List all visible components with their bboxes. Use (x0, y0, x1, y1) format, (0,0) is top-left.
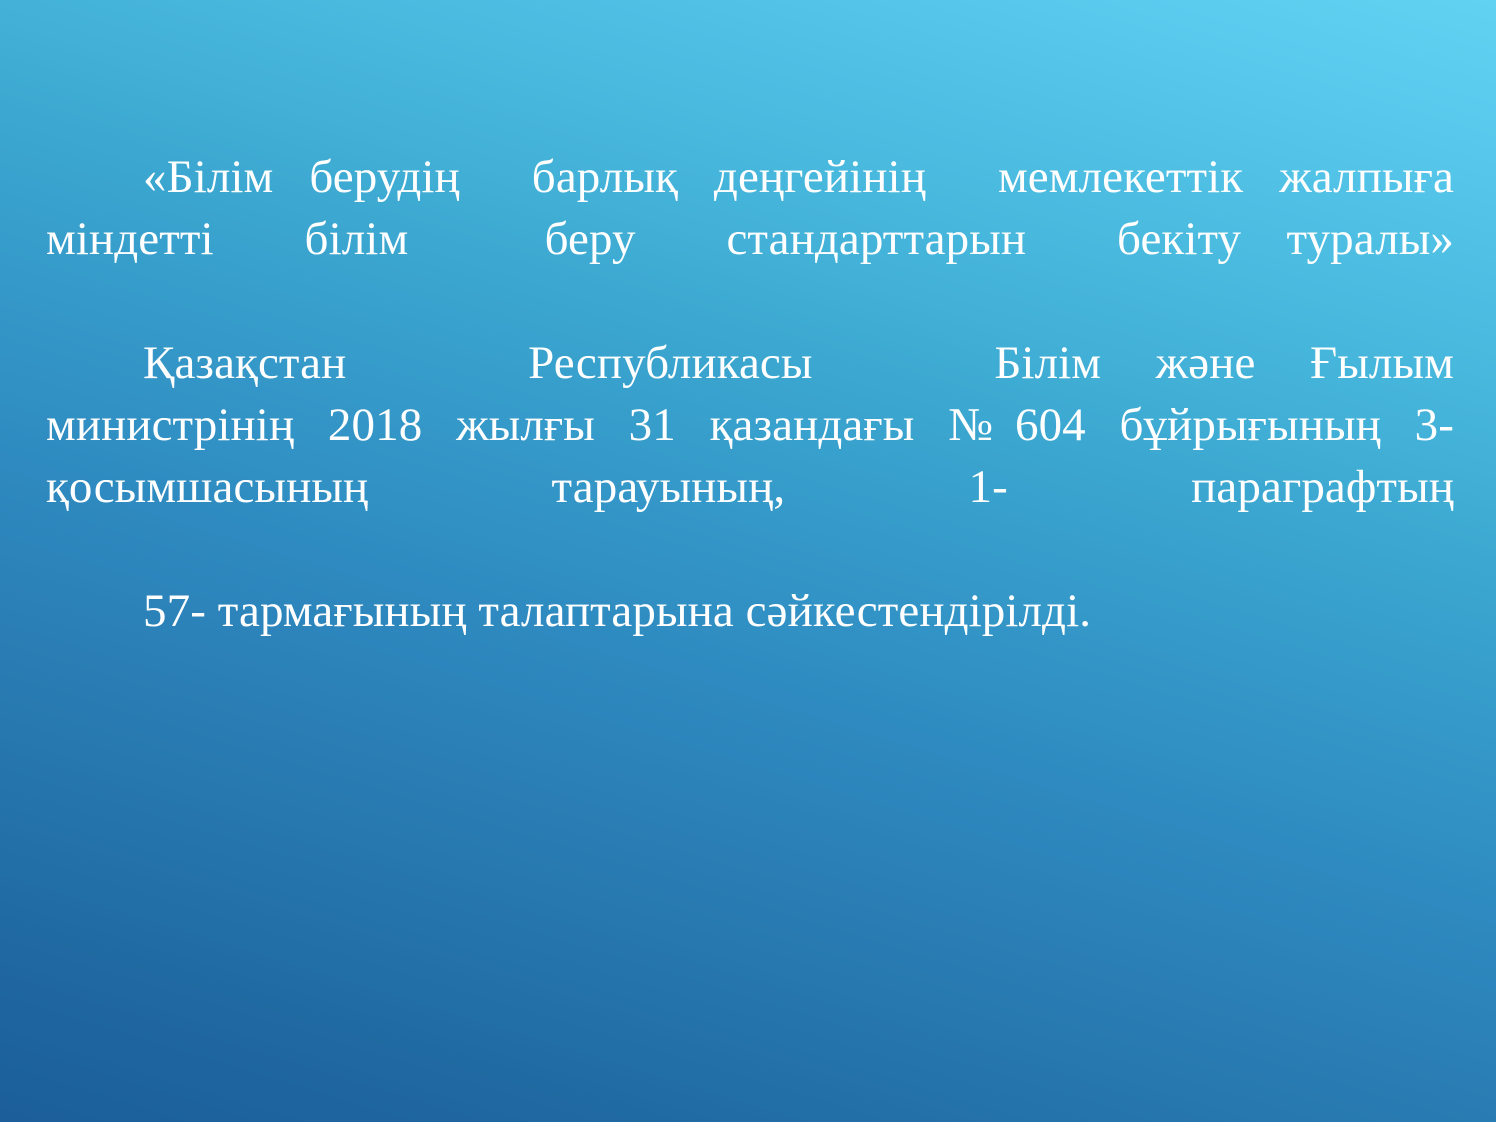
paragraph-clause-conformity: 57- тармағының талаптарына сәйкестендірі… (46, 580, 1454, 642)
slide-body-text: «Білім берудің барлық деңгейінің мемлеке… (46, 146, 1454, 642)
paragraph-quoted-standard-title: «Білім берудің барлық деңгейінің мемлеке… (46, 146, 1454, 332)
presentation-slide: «Білім берудің барлық деңгейінің мемлеке… (0, 0, 1496, 1122)
paragraph-order-reference: Қазақстан Республикасы Білім және Ғылым … (46, 332, 1454, 580)
